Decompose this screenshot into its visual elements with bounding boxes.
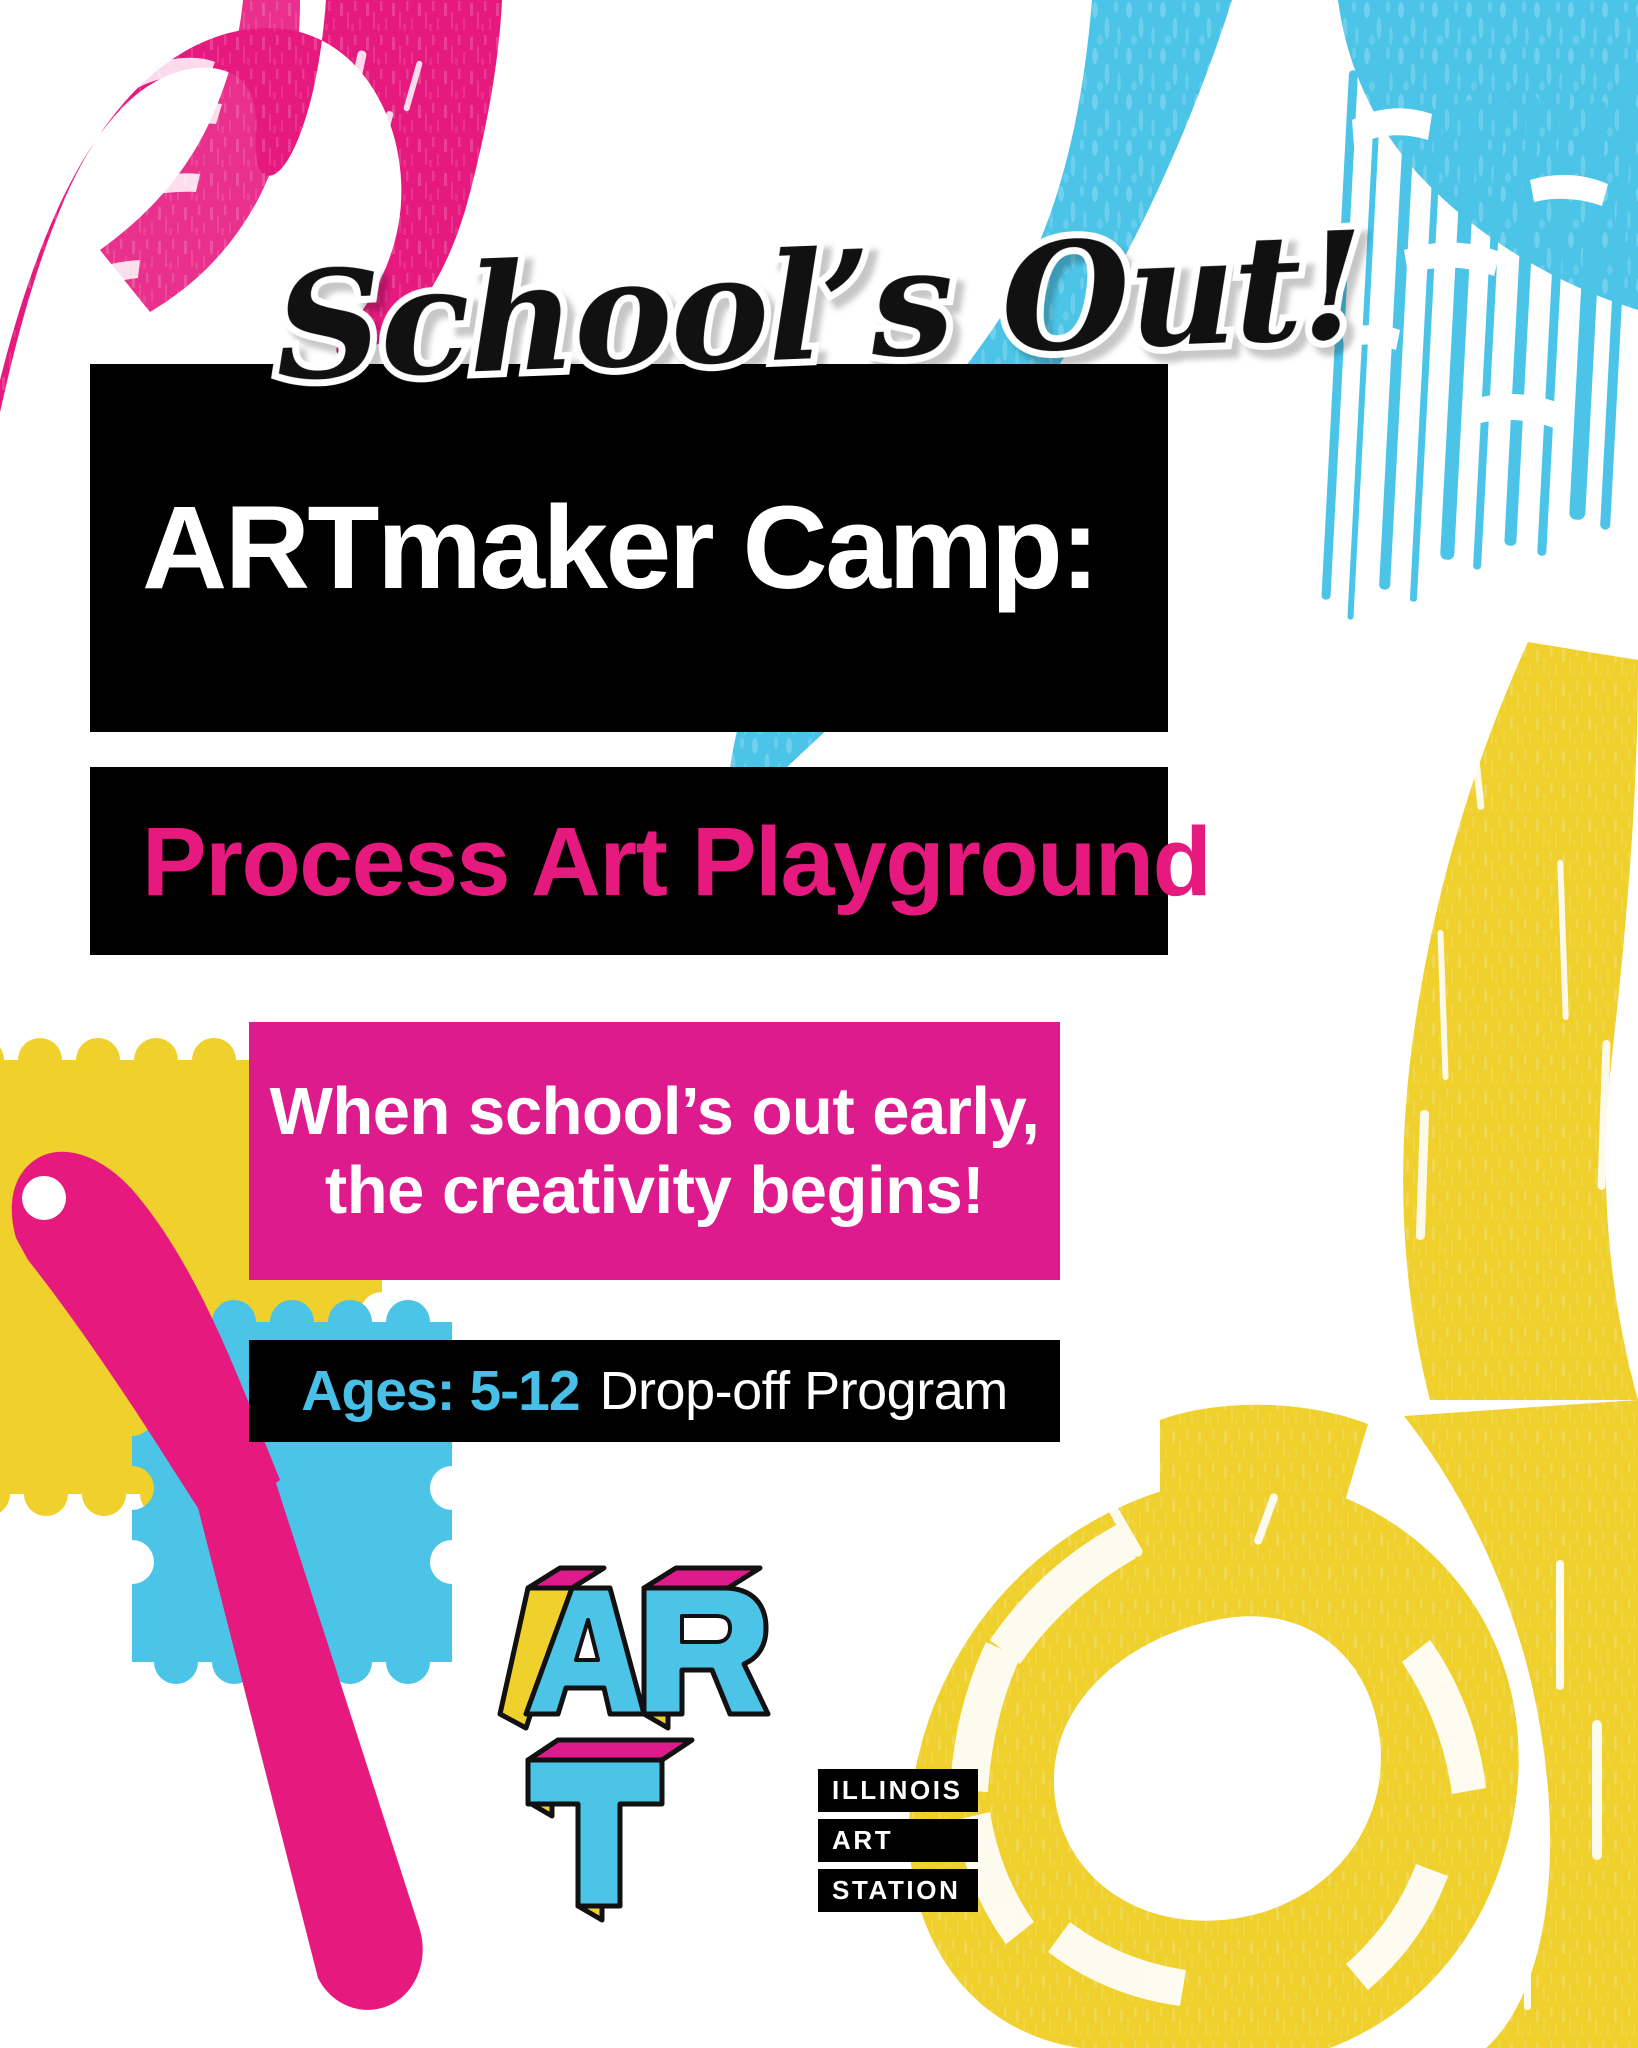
- yellow-swoosh-texture: [950, 1492, 1602, 2010]
- logo-wordmark: ILLINOIS ART STATION: [818, 1769, 978, 1912]
- yellow-brush-stroke: [1403, 642, 1638, 1400]
- tagline-box: When school’s out early, the creativity …: [249, 1022, 1060, 1280]
- tagline-line-1: When school’s out early,: [270, 1072, 1040, 1151]
- logo-letter-a-icon: [500, 1568, 644, 1728]
- yellow-swoosh-stroke: [909, 1400, 1638, 2048]
- main-title-text: ARTmaker Camp:: [90, 489, 1097, 607]
- ages-note: Drop-off Program: [600, 1360, 1008, 1422]
- logo-word-art: ART: [818, 1819, 978, 1862]
- ages-band: Ages: 5-12 Drop-off Program: [249, 1340, 1060, 1442]
- subtitle-text: Process Art Playground: [90, 813, 1210, 910]
- subtitle-band: Process Art Playground: [90, 767, 1168, 955]
- logo-word-station: STATION: [818, 1869, 978, 1912]
- main-title-band: ARTmaker Camp:: [90, 364, 1168, 732]
- logo-word-illinois: ILLINOIS: [818, 1769, 978, 1812]
- script-headline: School’s Out!: [0, 201, 1638, 412]
- yellow-brush-texture: [1416, 700, 1611, 1240]
- logo-letter-r-icon: [644, 1568, 768, 1728]
- tagline-line-2: the creativity begins!: [325, 1151, 984, 1230]
- pink-palette-knife: [12, 1152, 423, 2010]
- logo-letter-t-icon: [528, 1740, 692, 1920]
- poster-canvas: School’s Out! ARTmaker Camp: Process Art…: [0, 0, 1638, 2048]
- illinois-art-station-logo-mark: [492, 1558, 772, 1938]
- ages-label: Ages: 5-12: [301, 1358, 579, 1424]
